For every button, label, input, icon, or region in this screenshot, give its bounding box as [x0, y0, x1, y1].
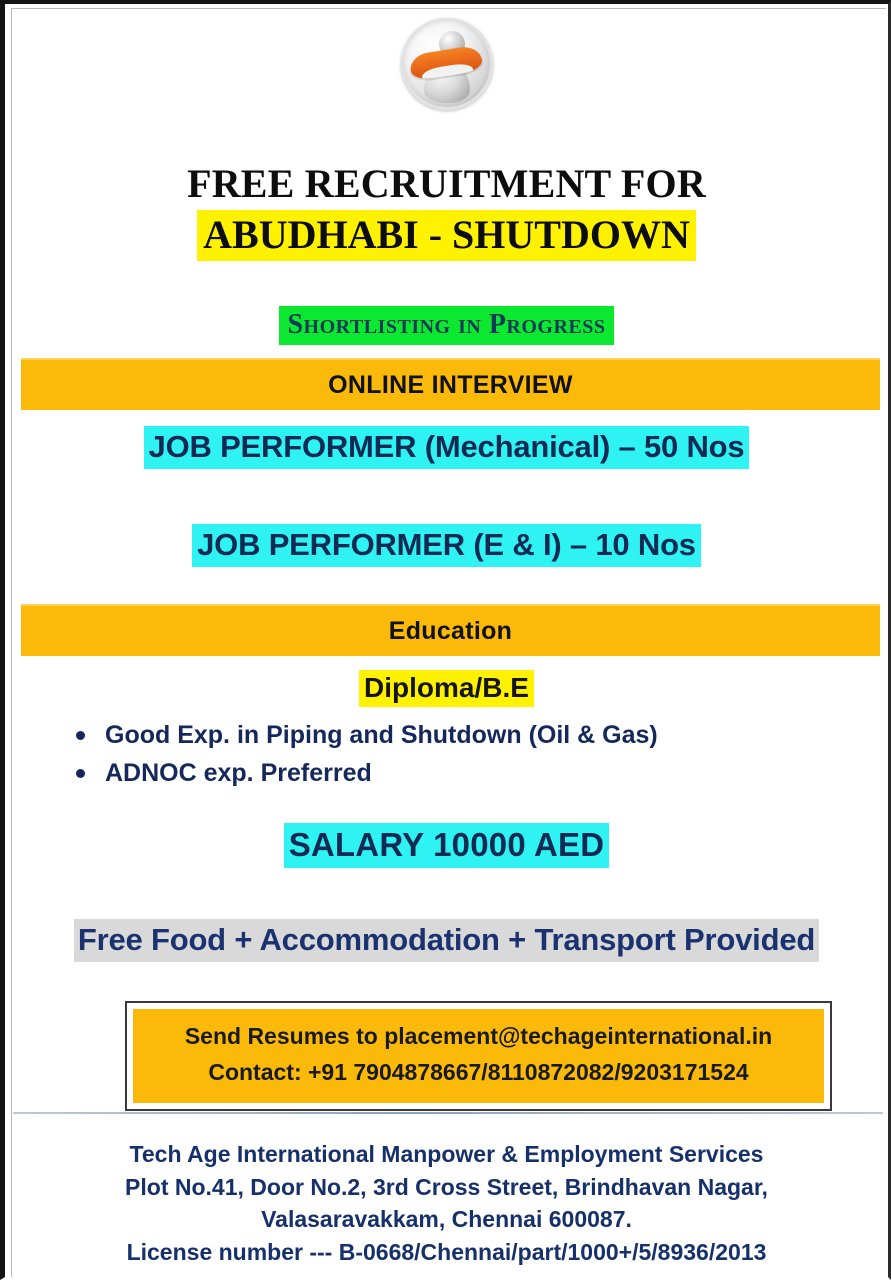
shortlisting-status-badge: Shortlisting in Progress — [279, 306, 613, 345]
title-line-2-highlight: ABUDHABI - SHUTDOWN — [197, 210, 696, 261]
education-band: Education — [21, 604, 880, 656]
job-label-mechanical: JOB PERFORMER (Mechanical) – 50 Nos — [144, 426, 750, 469]
online-interview-band: ONLINE INTERVIEW — [21, 358, 880, 410]
footer-address-line-2: Valasaravakkam, Chennai 600087. — [5, 1203, 888, 1236]
benefits-highlight: Free Food + Accommodation + Transport Pr… — [74, 919, 819, 962]
job-label-electrical-instrumentation: JOB PERFORMER (E & I) – 10 Nos — [192, 524, 701, 567]
job-row-mechanical: JOB PERFORMER (Mechanical) – 50 Nos — [5, 429, 888, 465]
requirements-list: Good Exp. in Piping and Shutdown (Oil & … — [67, 716, 767, 792]
footer-block: Tech Age International Manpower & Employ… — [5, 1138, 888, 1269]
education-value-highlight: Diploma/B.E — [359, 670, 534, 707]
contact-box: Send Resumes to placement@techageinterna… — [125, 1001, 832, 1111]
list-item: Good Exp. in Piping and Shutdown (Oil & … — [67, 716, 767, 754]
footer-divider — [13, 1112, 883, 1114]
footer-company-name: Tech Age International Manpower & Employ… — [5, 1138, 888, 1171]
education-value-row: Diploma/B.E — [5, 672, 888, 704]
title-line-2: ABUDHABI - SHUTDOWN — [5, 211, 888, 258]
footer-address-line-1: Plot No.41, Door No.2, 3rd Cross Street,… — [5, 1171, 888, 1204]
contact-phone-line[interactable]: Contact: +91 7904878667/8110872082/92031… — [143, 1054, 814, 1090]
job-row-electrical-instrumentation: JOB PERFORMER (E & I) – 10 Nos — [5, 527, 888, 563]
benefits-row: Free Food + Accommodation + Transport Pr… — [5, 922, 888, 958]
poster-title: FREE RECRUITMENT FOR ABUDHABI - SHUTDOWN — [5, 162, 888, 258]
salary-highlight: SALARY 10000 AED — [284, 823, 610, 868]
title-line-1: FREE RECRUITMENT FOR — [5, 162, 888, 207]
shortlisting-banner-row: Shortlisting in Progress — [5, 309, 888, 341]
logo-container — [5, 18, 888, 110]
contact-box-inner: Send Resumes to placement@techageinterna… — [133, 1009, 824, 1103]
salary-row: SALARY 10000 AED — [5, 826, 888, 864]
techage-circular-logo-icon — [401, 18, 493, 110]
list-item: ADNOC exp. Preferred — [67, 754, 767, 792]
footer-license-number: License number --- B-0668/Chennai/part/1… — [5, 1236, 888, 1269]
recruitment-poster: FREE RECRUITMENT FOR ABUDHABI - SHUTDOWN… — [0, 0, 891, 1280]
contact-email-line[interactable]: Send Resumes to placement@techageinterna… — [143, 1018, 814, 1054]
